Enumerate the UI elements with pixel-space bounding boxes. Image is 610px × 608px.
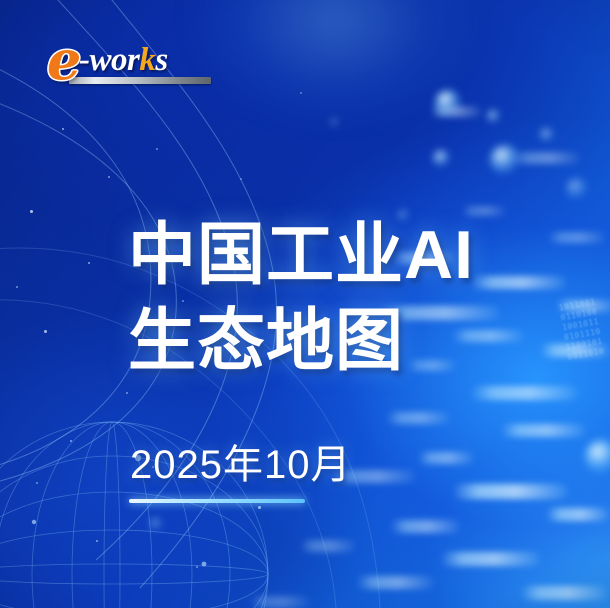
logo-wordmark: -works bbox=[79, 44, 168, 77]
title-line-2: 生态地图 bbox=[128, 298, 558, 384]
logo-wordmark-prefix: -wor bbox=[79, 42, 139, 78]
title-line-1: 中国工业AI bbox=[128, 212, 558, 298]
logo-underline-bar bbox=[69, 77, 211, 84]
poster-canvas: 1011001 0110100 1001011 0101110 1100101 … bbox=[0, 0, 610, 608]
date-underline-rule bbox=[129, 499, 305, 503]
logo-wordmark-accent: k bbox=[139, 42, 155, 78]
logo-wordmark-suffix: s bbox=[155, 42, 167, 78]
poster-title: 中国工业AI 生态地图 bbox=[128, 212, 558, 384]
logo-e-glyph: e bbox=[47, 33, 81, 87]
publication-date: 2025年10月 bbox=[130, 440, 351, 490]
eworks-logo[interactable]: e -works bbox=[47, 35, 217, 87]
